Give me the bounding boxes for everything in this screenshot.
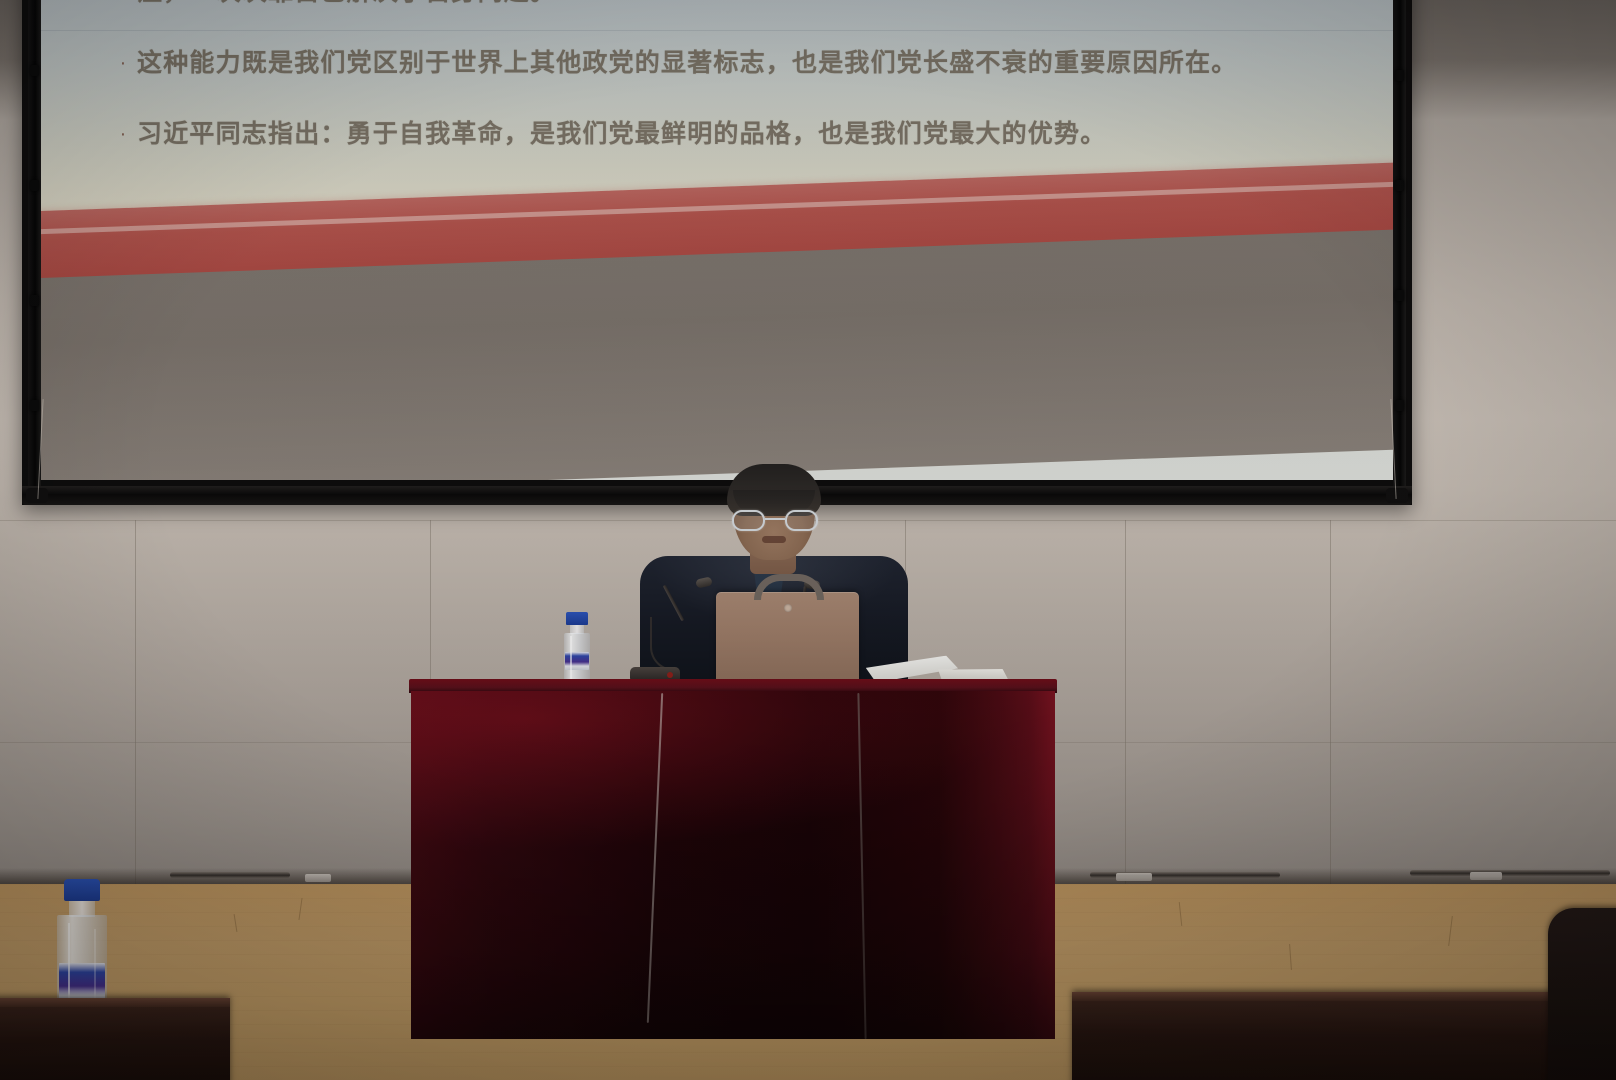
slide-bullet-text: 我们党始终保持了自我革命精神，保持了承认并改正错误的勇气，一次次拿起手术刀来革除… xyxy=(137,0,1333,12)
projection-screen[interactable]: 为什么能够始终走在时代前列、成为中国人民和中华民族的主心骨？ · 我们党始终保持… xyxy=(22,0,1412,505)
floor-outlet xyxy=(1470,872,1502,880)
audience-table-right xyxy=(1072,992,1616,1080)
bullet-dot-icon: · xyxy=(109,44,137,83)
microphone-gooseneck xyxy=(663,585,684,622)
presenter-mouth xyxy=(762,536,786,543)
eyeglass-lens-right xyxy=(785,510,818,531)
microphone-left[interactable] xyxy=(628,575,718,685)
floor-outlet xyxy=(305,874,331,882)
bullet-dot-icon: · xyxy=(109,0,137,12)
floor-outlet xyxy=(1116,873,1152,881)
bullet-dot-icon: · xyxy=(109,115,137,154)
table-edge xyxy=(0,998,230,1007)
audience-table-left xyxy=(0,998,230,1080)
slide-surface: 为什么能够始终走在时代前列、成为中国人民和中华民族的主心骨？ · 我们党始终保持… xyxy=(41,0,1393,480)
table-edge xyxy=(1072,992,1616,1001)
eyeglass-bridge xyxy=(765,518,785,520)
head-table xyxy=(409,679,1057,1039)
bottle-label xyxy=(565,652,589,670)
bottle-cap xyxy=(566,612,588,625)
slide-bullet-text: 这种能力既是我们党区别于世界上其他政党的显著标志，也是我们党长盛不衰的重要原因所… xyxy=(137,44,1237,83)
laptop[interactable] xyxy=(716,592,859,682)
slide-bullet-item: · 我们党始终保持了自我革命精神，保持了承认并改正错误的勇气，一次次拿起手术刀来… xyxy=(109,0,1333,12)
laptop-latch-icon xyxy=(784,604,792,612)
slide-bullet-text: 习近平同志指出：勇于自我革命，是我们党最鲜明的品格，也是我们党最大的优势。 xyxy=(137,115,1106,154)
microphone-indicator-led xyxy=(667,672,673,678)
slide-bullet-list: · 我们党始终保持了自我革命精神，保持了承认并改正错误的勇气，一次次拿起手术刀来… xyxy=(101,0,1333,154)
slide-bullet-item: · 习近平同志指出：勇于自我革命，是我们党最鲜明的品格，也是我们党最大的优势。 xyxy=(109,115,1333,154)
screen-left-rail xyxy=(28,0,41,505)
audience-chair-right xyxy=(1548,908,1616,1080)
screen-right-rail xyxy=(1393,0,1406,505)
slide-bullet-item: · 这种能力既是我们党区别于世界上其他政党的显著标志，也是我们党长盛不衰的重要原… xyxy=(109,44,1333,83)
slide-wave-graphic xyxy=(41,195,1393,480)
slide-text-block: 为什么能够始终走在时代前列、成为中国人民和中华民族的主心骨？ · 我们党始终保持… xyxy=(41,0,1393,186)
water-bottle-podium[interactable] xyxy=(562,612,592,686)
table-skirt xyxy=(411,691,1055,1039)
microphone-capsule xyxy=(695,576,713,588)
bottle-cap xyxy=(64,879,100,901)
eyeglasses xyxy=(732,510,818,532)
eyeglass-lens-left xyxy=(732,510,765,531)
floor-cable xyxy=(1410,870,1610,876)
presenter-hair xyxy=(727,464,821,516)
photo-scene: 为什么能够始终走在时代前列、成为中国人民和中华民族的主心骨？ · 我们党始终保持… xyxy=(0,0,1616,1080)
floor-cable xyxy=(170,872,290,878)
microphone-gooseneck-curve xyxy=(650,617,674,671)
